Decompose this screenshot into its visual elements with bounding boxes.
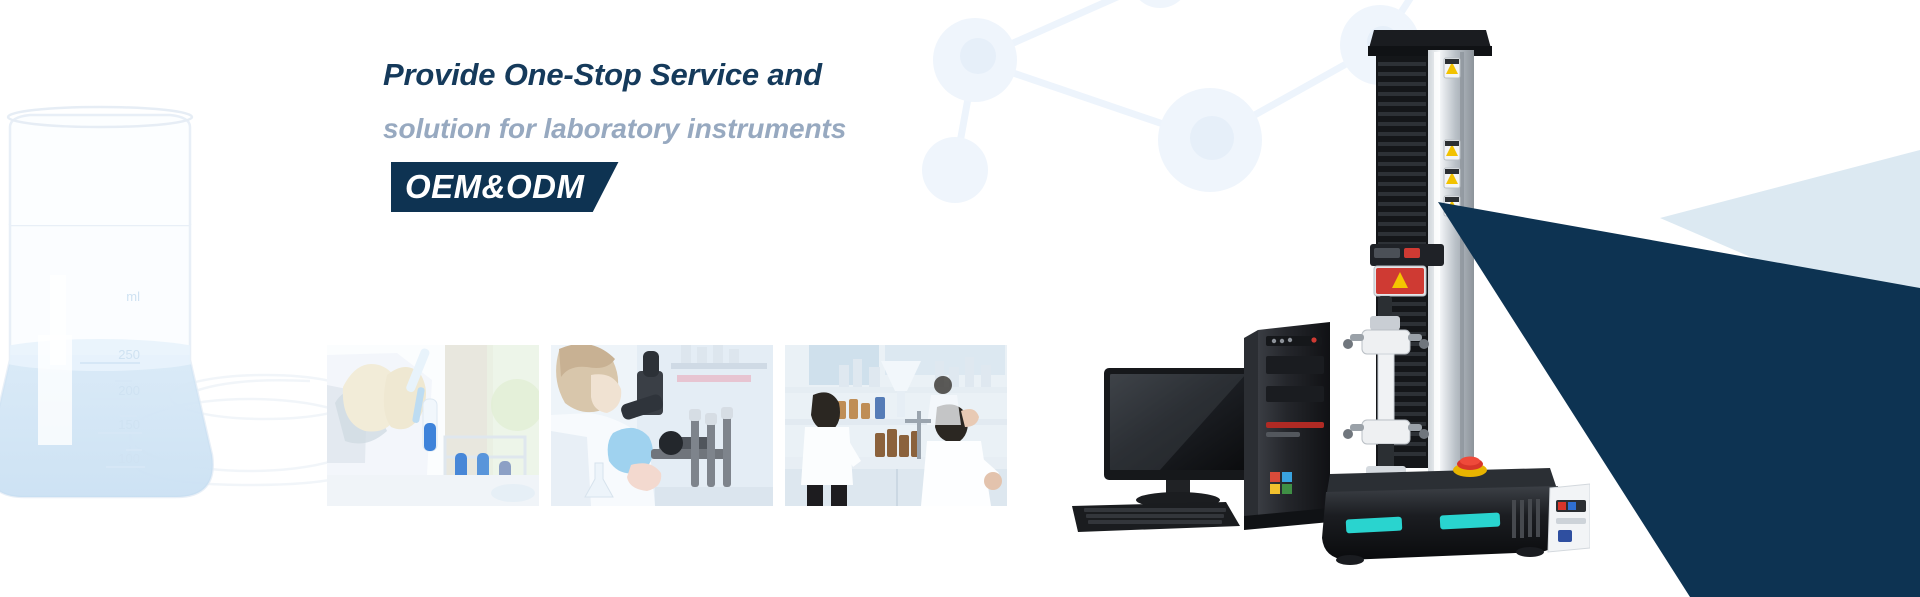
headline-line-1: Provide One-Stop Service and — [383, 58, 1003, 92]
keyboard — [1072, 502, 1240, 532]
desktop-monitor — [1104, 368, 1252, 508]
product-hardware-group — [1030, 0, 1590, 597]
upper-grip — [1343, 316, 1429, 354]
hero-banner: ml 250 200 150 100 Provide One-Stop Serv… — [0, 0, 1920, 597]
accent-triangle-light — [1660, 150, 1920, 330]
svg-text:250: 250 — [118, 347, 140, 362]
photo-pipetting — [327, 345, 539, 506]
control-box — [1548, 484, 1590, 552]
photo-microscope — [551, 345, 773, 506]
svg-text:150: 150 — [118, 417, 140, 432]
photo-lab-bench — [785, 345, 1007, 506]
warning-label-group — [1444, 58, 1460, 216]
headline-line-2: solution for laboratory instruments — [383, 114, 1003, 145]
oem-odm-tagline: OEM&ODM — [391, 162, 619, 213]
lab-photo-strip — [327, 345, 1007, 506]
svg-text:200: 200 — [118, 383, 140, 398]
crosshead — [1370, 244, 1444, 316]
universal-tensile-testing-machine — [1322, 30, 1590, 565]
emergency-stop-button — [1453, 457, 1487, 478]
svg-text:100: 100 — [118, 451, 140, 466]
tagline-wrapper: OEM&ODM — [391, 162, 619, 213]
svg-text:ml: ml — [126, 289, 140, 304]
computer-tower — [1244, 322, 1330, 530]
hero-copy: Provide One-Stop Service and solution fo… — [383, 58, 1003, 212]
accent-triangle-navy — [1438, 202, 1920, 597]
lower-grip — [1343, 420, 1429, 480]
flask-graduations: ml 250 200 150 100 — [118, 289, 140, 466]
accent-shape-group — [1360, 0, 1920, 597]
